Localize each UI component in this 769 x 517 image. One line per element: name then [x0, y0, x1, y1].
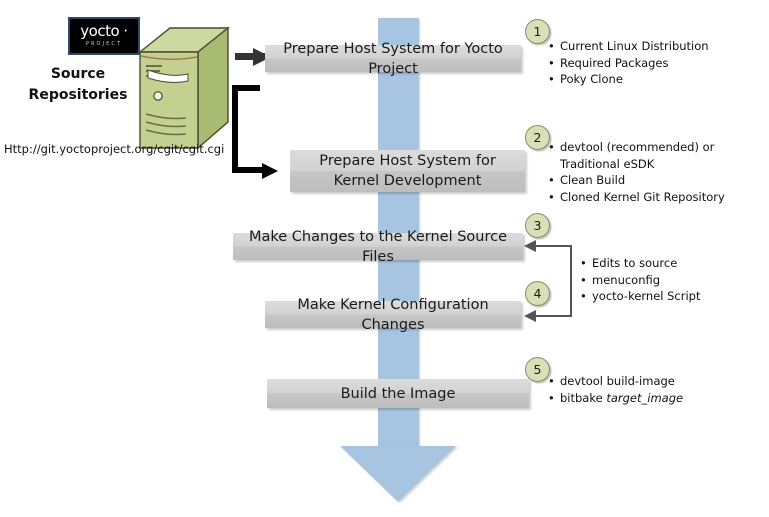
step-circle-4: 4: [525, 281, 550, 306]
bracket-connector-arrowhead-bottom: [524, 310, 536, 322]
workflow-flow-arrow-head: [340, 446, 456, 502]
list-item: Current Linux Distribution: [548, 38, 763, 55]
yocto-project-logo: yocto · PROJECT: [68, 17, 140, 55]
list-item: Clean Build: [548, 172, 763, 189]
source-repositories-label-line1: Source: [14, 64, 142, 85]
step-1-bullet-list: Current Linux Distribution Required Pack…: [548, 38, 763, 88]
bracket-connector-arrowhead-top: [524, 240, 536, 252]
step-circle-3: 3: [525, 213, 550, 238]
list-item: menuconfig: [580, 272, 760, 289]
step-circle-2: 2: [525, 125, 550, 150]
step-circle-5: 5: [525, 357, 550, 382]
list-item: yocto-kernel Script: [580, 288, 760, 305]
list-item: Cloned Kernel Git Repository: [548, 189, 763, 206]
steps-3-and-4-bullet-list: Edits to source menuconfig yocto-kernel …: [580, 255, 760, 305]
logo-subtext: PROJECT: [86, 40, 122, 48]
step-2-bullet-list: devtool (recommended) or Traditional eSD…: [548, 139, 763, 205]
process-box-build-image[interactable]: Build the Image: [267, 379, 529, 408]
list-item: Required Packages: [548, 55, 763, 72]
process-box-make-kernel-config-changes[interactable]: Make Kernel Configuration Changes: [265, 301, 521, 328]
server-icon: [136, 26, 232, 154]
bitbake-target-image-placeholder: target_image: [606, 391, 683, 405]
step-5-bullet-list: devtool build-image bitbake target_image: [548, 373, 763, 406]
list-item: devtool (recommended) or Traditional eSD…: [548, 139, 763, 172]
process-box-prepare-host-kernel[interactable]: Prepare Host System for Kernel Developme…: [290, 150, 525, 192]
list-item: Edits to source: [580, 255, 760, 272]
logo-wordmark: yocto ·: [80, 24, 127, 39]
source-repositories-label: Source Repositories: [14, 64, 142, 106]
source-repositories-label-line2: Repositories: [14, 85, 142, 106]
bracket-connector-vertical-segment: [570, 246, 572, 316]
process-box-make-kernel-source-changes[interactable]: Make Changes to the Kernel Source Files: [233, 233, 523, 260]
source-repository-url: Http://git.yoctoproject.org/cgit/cgit.cg…: [4, 142, 234, 156]
bitbake-command-prefix: bitbake: [560, 391, 606, 405]
connector-server-to-box2-segment-vertical: [232, 85, 238, 173]
list-item: devtool build-image: [548, 373, 763, 390]
list-item: Poky Clone: [548, 71, 763, 88]
step-circle-1: 1: [525, 19, 550, 44]
list-item: bitbake target_image: [548, 390, 763, 407]
process-box-prepare-host-yocto[interactable]: Prepare Host System for Yocto Project: [265, 45, 521, 72]
connector-server-to-box2-arrowhead: [262, 163, 278, 179]
